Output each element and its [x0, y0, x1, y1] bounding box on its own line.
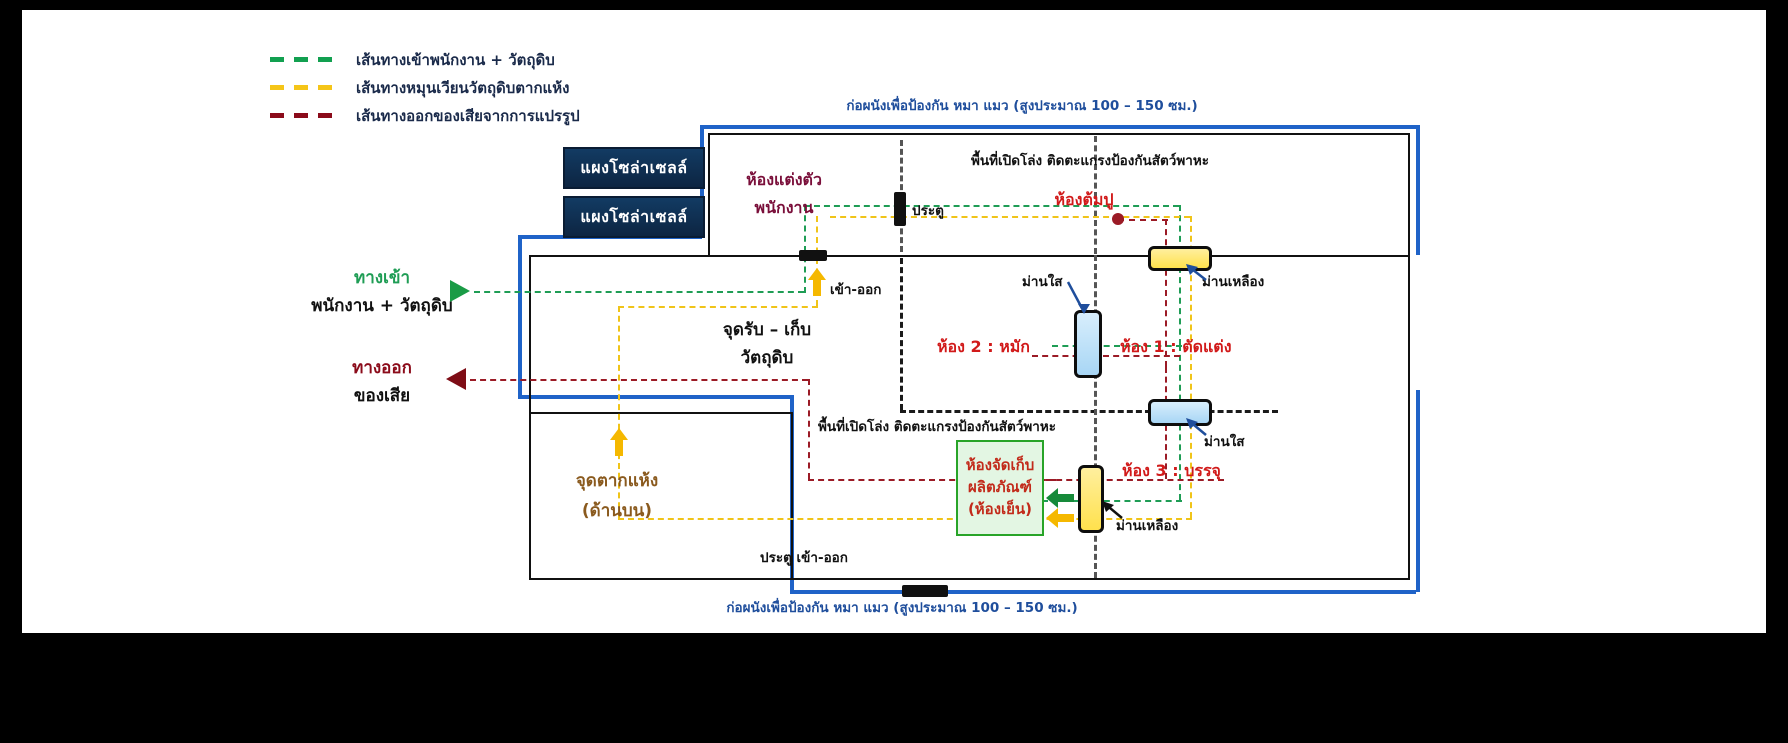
hall-right-edge [1408, 133, 1410, 255]
legend-label: เส้นทางเข้าพนักงาน + วัตถุดิบ [356, 48, 555, 72]
legend-label: เส้นทางออกของเสียจากการแปรรูป [356, 104, 580, 128]
legend-label: เส้นทางหมุนเวียนวัตถุดิบตากแห้ง [356, 76, 569, 100]
red-route-boiling [1118, 219, 1168, 221]
yellow-arrow-up-door-icon [808, 268, 826, 296]
main-frame-left-edge [529, 255, 531, 578]
red-route-exit [470, 379, 808, 381]
solar-panel-2: แผงโซล่าเซลล์ [563, 196, 705, 238]
door-bottom-wall [902, 585, 948, 597]
top-wall-note: ก่อผนังเพื่อป้องกัน หมา แมว (สูงประมาณ 1… [846, 98, 1197, 115]
blue-wall-right-lower [1416, 390, 1420, 592]
room1-label: ห้อง 1 : ตัดแต่ง [1120, 337, 1232, 357]
yellow-arrow-up-drying-icon [610, 428, 628, 456]
yellow-curtain-bottom-leader-line [1090, 498, 1150, 528]
exit-title: ทางออก [352, 358, 412, 379]
red-route-origin-dot [1112, 213, 1124, 225]
changing-room-label-line2: พนักงาน [755, 198, 814, 218]
boiling-room-label: ห้องต้มปู [1054, 190, 1113, 210]
blue-wall-top [700, 125, 1416, 129]
legend: เส้นทางเข้าพนักงาน + วัตถุดิบ เส้นทางหมุ… [270, 48, 690, 138]
drying-point-line2: (ด้านบน) [582, 501, 652, 522]
blue-wall-left-vertical [518, 235, 522, 395]
blue-wall-right-upper [1416, 125, 1420, 255]
diagram-canvas: เส้นทางเข้าพนักงาน + วัตถุดิบ เส้นทางหมุ… [22, 10, 1766, 633]
door-hall-top [894, 192, 906, 226]
bottom-wall-note: ก่อผนังเพื่อป้องกัน หมา แมว (สูงประมาณ 1… [726, 600, 1077, 617]
hall-top-edge [708, 133, 1408, 135]
cold-storage-line3: (ห้องเย็น) [968, 499, 1032, 521]
hall-bottom-edge [529, 255, 1408, 257]
solar-panel-label: แผงโซล่าเซลล์ [580, 156, 687, 181]
room3-label: ห้อง 3 : บรรจุ [1122, 461, 1221, 481]
hall-left-edge [708, 133, 710, 255]
green-route-riser [804, 205, 806, 293]
cold-storage-line2: ผลิตภัณฑ์ [968, 477, 1032, 499]
exit-arrow-icon [446, 368, 466, 390]
exit-subtitle: ของเสีย [354, 386, 410, 407]
receive-point-line1: จุดรับ – เก็บ [723, 320, 811, 341]
main-frame-bottom-edge [529, 578, 1408, 580]
drying-point-line1: จุดตากแห้ง [576, 471, 658, 492]
room2-label: ห้อง 2 : หมัก [937, 337, 1030, 357]
screenshot-root: เส้นทางเข้าพนักงาน + วัตถุดิบ เส้นทางหมุ… [0, 0, 1788, 743]
entry-subtitle: พนักงาน + วัตถุดิบ [311, 296, 452, 317]
green-arrow-left-icon [1046, 488, 1074, 508]
green-dashed-line-icon [270, 57, 336, 62]
blue-wall-bottom [790, 590, 1416, 594]
door-hall-left [799, 250, 827, 261]
green-route-entry [474, 291, 804, 293]
open-area-lower-label: พื้นที่เปิดโล่ง ติดตะแกรงป้องกันสัตว์พาห… [818, 419, 1056, 436]
door-bottom-label: ประตู เข้า-ออก [760, 550, 848, 567]
yellow-route-hall [830, 216, 1190, 218]
green-route-hall [804, 205, 1179, 207]
drying-yard-top [529, 412, 791, 414]
cold-storage-room: ห้องจัดเก็บ ผลิตภัณฑ์ (ห้องเย็น) [956, 440, 1044, 536]
changing-room-label-line1: ห้องแต่งตัว [746, 170, 822, 190]
clear-curtain-lower-leader-line [1170, 415, 1230, 445]
clear-curtain-room12 [1074, 310, 1102, 378]
blue-wall-mid-left-run [518, 395, 790, 399]
main-frame-right-edge [1408, 255, 1410, 580]
yellow-arrow-left-icon [1046, 508, 1074, 528]
yellow-dashed-line-icon [270, 85, 336, 90]
yellow-route-mid [618, 306, 818, 308]
door-top-label-line1: ประตู [912, 203, 944, 220]
red-route-drop [808, 379, 810, 479]
open-area-upper-label: พื้นที่เปิดโล่ง ติดตะแกรงป้องกันสัตว์พาห… [971, 153, 1209, 170]
solar-panel-1: แผงโซล่าเซลล์ [563, 147, 705, 189]
yellow-curtain-leader-line [1162, 260, 1232, 300]
red-dashed-line-icon [270, 113, 336, 118]
entry-title: ทางเข้า [354, 268, 410, 289]
door-top-label-line2: เข้า-ออก [830, 282, 881, 299]
partition-mid-vertical [900, 258, 903, 410]
curtain-leader-lines [1012, 260, 1272, 320]
partition-horizontal [900, 410, 1278, 413]
entry-arrow-icon [450, 280, 470, 302]
solar-panel-label: แผงโซล่าเซลล์ [580, 205, 687, 230]
cold-storage-line1: ห้องจัดเก็บ [966, 455, 1034, 477]
receive-point-line2: วัตถุดิบ [741, 348, 794, 369]
